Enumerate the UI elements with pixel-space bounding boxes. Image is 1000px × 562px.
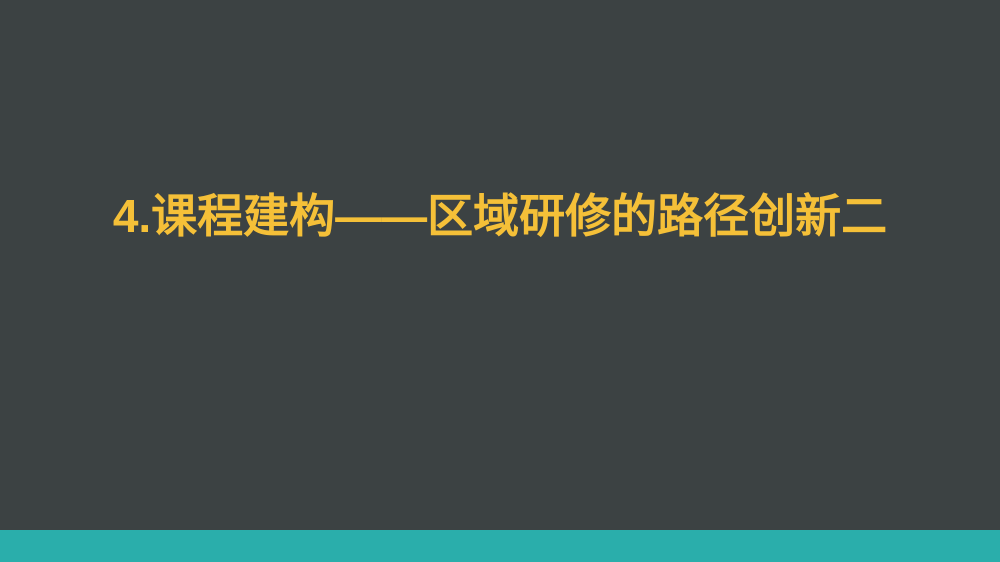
page-title: 4.课程建构——区域研修的路径创新二 xyxy=(113,186,887,246)
slide-title-container: 4.课程建构——区域研修的路径创新二 xyxy=(0,186,1000,246)
slide: 4.课程建构——区域研修的路径创新二 xyxy=(0,0,1000,562)
bottom-accent-bar xyxy=(0,530,1000,562)
